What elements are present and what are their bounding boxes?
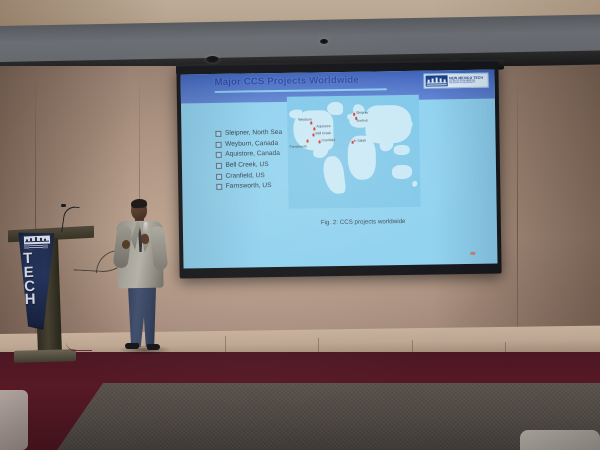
checkbox-bullet-icon [216,141,222,147]
map-marker-weyburn [310,121,312,124]
map-label: Snohvit [356,119,367,123]
banner-letter-4: H [24,293,36,307]
landmass-new-zealand [411,180,418,188]
map-label: Aquistore [316,124,330,128]
logo-line-2: SCIENCE ENGINEERING RESEARCH UNIVERSITY [449,80,488,85]
map-label: Cranfield [322,138,336,142]
bullet-label: Cranfield, US [226,172,265,180]
logo-wordmark: NEW MEXICO TECH SCIENCE ENGINEERING RESE… [448,76,488,85]
map-marker-sleipner [353,113,355,116]
checkbox-bullet-icon [216,152,222,158]
downlight-icon [206,56,219,63]
downlight-icon [320,39,328,44]
tech-building-icon [426,75,448,86]
landmass-south-america [322,155,346,195]
map-label: Sleipner [356,111,369,115]
new-mexico-tech-logo: NEW MEXICO TECH SCIENCE ENGINEERING RESE… [424,73,489,89]
bullet-label: Sleipner, North Sea [225,129,282,137]
map-marker-cranfield [319,140,321,143]
foreground-object-right [520,430,600,450]
map-marker-farnsworth [307,139,309,142]
projected-slide: Major CCS Projects Worldwide NEW MEXICO … [180,70,497,269]
banner-tech-building-icon [24,236,50,245]
presenter-shoe-left [125,343,139,349]
podium-base [14,349,76,363]
checkbox-bullet-icon [216,173,222,179]
map-label: In Salah [354,139,367,143]
landmass-india [380,137,394,151]
landmass-southeast-asia [394,145,410,155]
checkbox-bullet-icon [215,131,221,137]
landmass-australia [392,165,412,179]
map-label: Farnsworth [290,145,307,149]
figure-caption: Fig. 2: CCS projects worldwide [321,217,417,228]
map-label: Weyburn [298,117,312,121]
foreground-object-left [0,390,28,450]
bullet-label: Bell Creek, US [225,161,268,169]
map-marker-aquistore [313,127,315,130]
banner-word-tech: T E C H [23,252,36,308]
floor-cable [66,342,92,351]
map-marker-bell-creek [312,133,314,136]
checkbox-bullet-icon [216,163,222,169]
slide-title: Major CCS Projects Worldwide [215,75,359,88]
bullet-label: Weyburn, Canada [225,140,278,148]
bullet-label: Aquistore, Canada [225,150,280,158]
banner-subtitle-lines [24,245,48,250]
presenter-ear [144,208,147,212]
slide-corner-mark [470,252,475,255]
bullet-label: Farnsworth, US [226,182,272,190]
area-rug-texture [55,383,600,450]
landmass-greenland [327,102,343,115]
map-label: Bell Creek [315,131,331,135]
world-map-ccs-projects: Weyburn Aquistore Bell Creek Cranfield F… [287,95,421,209]
microphone-head-icon [61,204,66,207]
presenter-shoe-right [147,344,160,350]
presentation-room-photo: Major CCS Projects Worldwide NEW MEXICO … [0,0,600,450]
landmass-british-isles [347,114,352,120]
checkbox-bullet-icon [216,184,222,190]
